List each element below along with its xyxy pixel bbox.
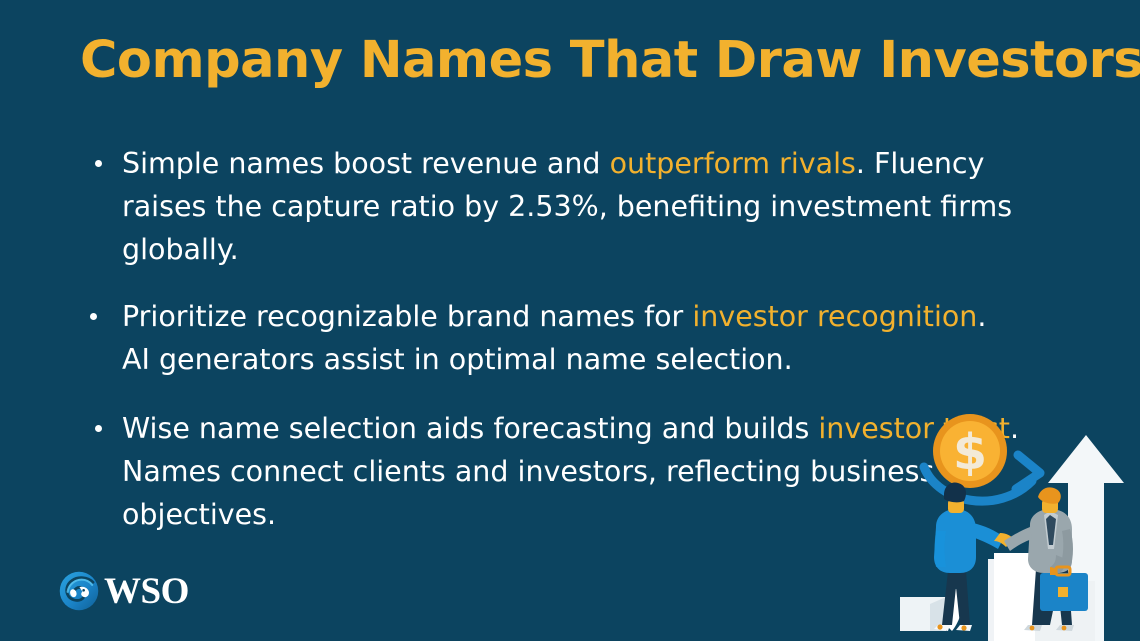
- bullet-dot-icon: [90, 313, 97, 320]
- slide-canvas: Company Names That Draw Investors Simple…: [0, 0, 1140, 641]
- bullet-2-text: Prioritize recognizable brand names for …: [122, 300, 986, 376]
- wso-swirl-icon: [58, 570, 100, 612]
- highlighted-phrase: investor recognition: [692, 300, 977, 333]
- bullet-3-text: Wise name selection aids forecasting and…: [122, 412, 1019, 531]
- bullet-list: Simple names boost revenue and outperfor…: [86, 142, 1046, 536]
- bullet-1-text: Simple names boost revenue and outperfor…: [122, 147, 1012, 266]
- page-title: Company Names That Draw Investors: [80, 32, 1060, 89]
- list-item: Simple names boost revenue and outperfor…: [86, 142, 1062, 271]
- body-text-run: Prioritize recognizable brand names for: [122, 300, 692, 333]
- growth-arrow-shape: [1048, 435, 1124, 641]
- highlighted-phrase: investor trust: [818, 412, 1010, 445]
- bullet-dot-icon: [95, 160, 102, 167]
- bullet-dot-icon: [95, 425, 102, 432]
- list-item: Prioritize recognizable brand names for …: [86, 295, 1022, 381]
- list-item: Wise name selection aids forecasting and…: [86, 407, 1022, 536]
- body-text-run: Wise name selection aids forecasting and…: [122, 412, 818, 445]
- body-text-run: Simple names boost revenue and: [122, 147, 610, 180]
- wso-wordmark: WSO: [104, 573, 189, 610]
- wso-logo[interactable]: WSO: [58, 570, 189, 612]
- chart-steps-shape: [900, 553, 1095, 641]
- highlighted-phrase: outperform rivals: [610, 147, 856, 180]
